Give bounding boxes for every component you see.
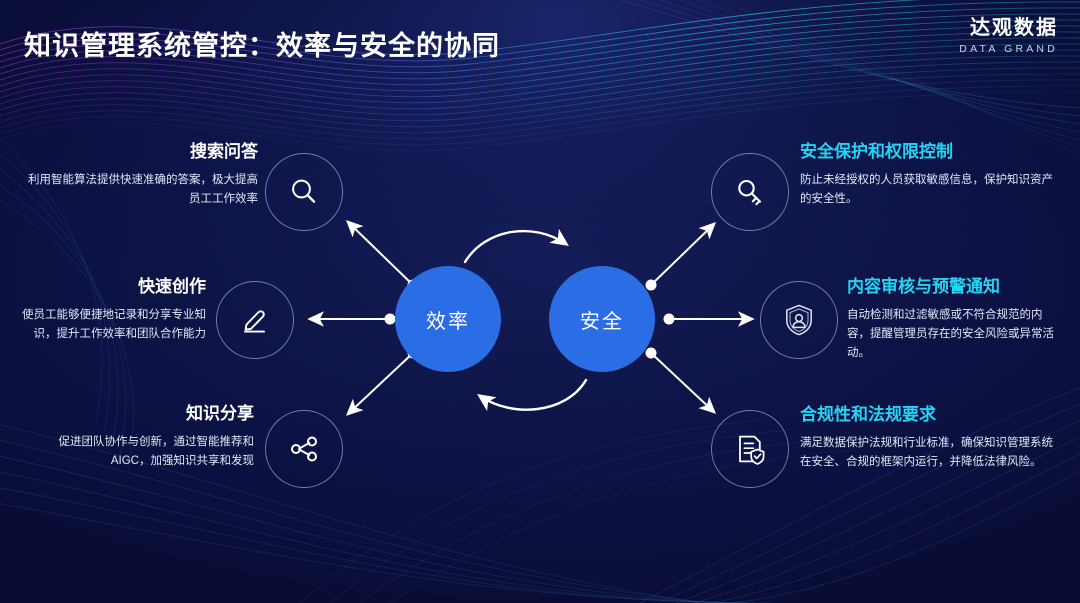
document-check-icon [732, 431, 768, 467]
cycle-arrow-top [465, 231, 566, 262]
feature-title-knowledge-sharing: 知识分享 [22, 404, 254, 424]
slide-header: 知识管理系统管控：效率与安全的协同 达观数据 DATA GRAND [0, 0, 1080, 78]
spoke-search [348, 222, 413, 285]
pencil-icon [238, 303, 272, 337]
feature-desc-search: 利用智能算法提供快速准确的答案，极大提高员工工作效率 [18, 171, 258, 209]
feature-desc-content-audit: 自动检测和过滤敏感或不符合规范的内容，提醒管理员存在的安全风险或异常活动。 [847, 306, 1062, 363]
shield-user-icon [781, 302, 817, 338]
spoke-share [348, 353, 413, 414]
icon-bubble-share[interactable] [265, 410, 343, 488]
page-title: 知识管理系统管控：效率与安全的协同 [24, 24, 500, 63]
icon-bubble-compliance[interactable] [711, 410, 789, 488]
icon-bubble-search[interactable] [265, 153, 343, 231]
hub-security-label: 安全 [580, 305, 624, 334]
feature-block-knowledge-sharing: 知识分享 促进团队协作与创新，通过智能推荐和AIGC，加强知识共享和发现 [22, 404, 254, 471]
key-icon [733, 175, 767, 209]
feature-desc-security-permission: 防止未经授权的人员获取敏感信息，保护知识资产的安全性。 [800, 171, 1062, 209]
feature-desc-compliance: 满足数据保护法规和行业标准，确保知识管理系统在安全、合规的框架内运行，并降低法律… [800, 434, 1062, 472]
share-icon [287, 432, 321, 466]
feature-title-create: 快速创作 [0, 277, 206, 297]
icon-bubble-permission[interactable] [711, 153, 789, 231]
feature-block-security-permission: 安全保护和权限控制 防止未经授权的人员获取敏感信息，保护知识资产的安全性。 [800, 142, 1062, 209]
feature-title-content-audit: 内容审核与预警通知 [847, 277, 1062, 297]
feature-desc-knowledge-sharing: 促进团队协作与创新，通过智能推荐和AIGC，加强知识共享和发现 [22, 433, 254, 471]
cycle-arrow-bottom [480, 380, 586, 410]
search-icon [287, 175, 321, 209]
brand-logo: 达观数据 DATA GRAND [959, 18, 1058, 55]
feature-title-search: 搜索问答 [18, 142, 258, 162]
spoke-security [651, 224, 714, 285]
hub-efficiency[interactable]: 效率 [395, 266, 501, 372]
hub-efficiency-label: 效率 [426, 305, 470, 334]
icon-bubble-audit[interactable] [760, 281, 838, 359]
logo-text-en: DATA GRAND [959, 44, 1058, 55]
feature-title-security-permission: 安全保护和权限控制 [800, 142, 1062, 162]
feature-desc-create: 使员工能够便捷地记录和分享专业知识，提升工作效率和团队合作能力 [0, 306, 206, 344]
icon-bubble-create[interactable] [216, 281, 294, 359]
feature-block-content-audit: 内容审核与预警通知 自动检测和过滤敏感或不符合规范的内容，提醒管理员存在的安全风… [847, 277, 1062, 363]
feature-block-create: 快速创作 使员工能够便捷地记录和分享专业知识，提升工作效率和团队合作能力 [0, 277, 206, 344]
slide-canvas: 知识管理系统管控：效率与安全的协同 达观数据 DATA GRAND [0, 0, 1080, 603]
logo-text-cn: 达观数据 [959, 18, 1058, 38]
feature-title-compliance: 合规性和法规要求 [800, 405, 1062, 425]
spoke-compliance [651, 353, 714, 412]
feature-block-search: 搜索问答 利用智能算法提供快速准确的答案，极大提高员工工作效率 [18, 142, 258, 209]
feature-block-compliance: 合规性和法规要求 满足数据保护法规和行业标准，确保知识管理系统在安全、合规的框架… [800, 405, 1062, 472]
hub-security[interactable]: 安全 [549, 266, 655, 372]
